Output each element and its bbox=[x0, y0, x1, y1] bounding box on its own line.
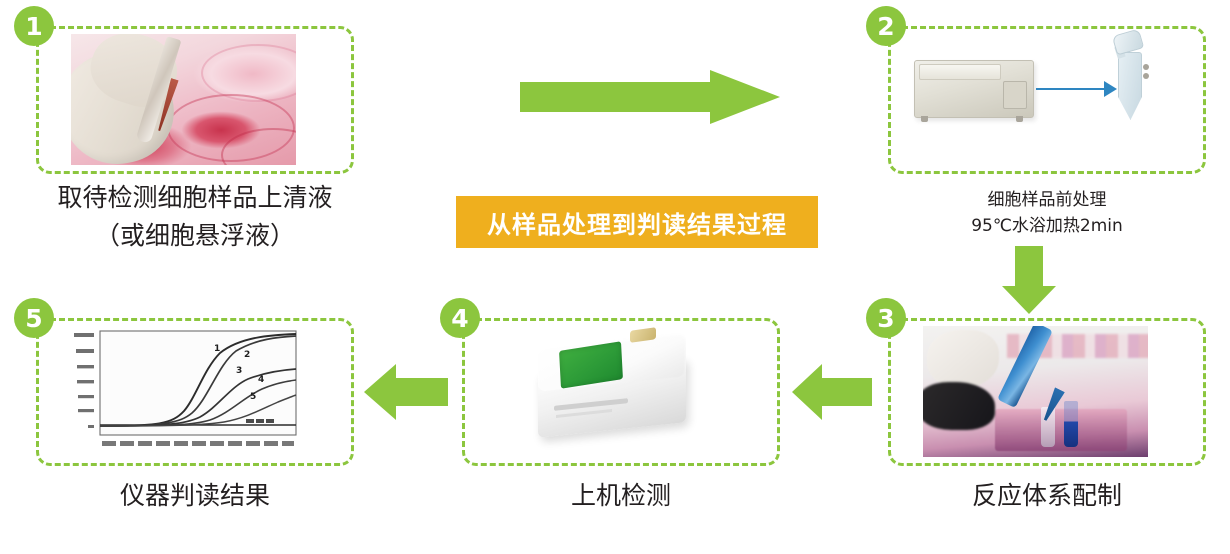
svg-text:1: 1 bbox=[214, 344, 220, 354]
step-3-image bbox=[923, 326, 1148, 457]
workflow-diagram: 1 取待检测细胞样品上清液 （或细胞悬浮液） 2 bbox=[0, 0, 1230, 554]
step-5-caption: 仪器判读结果 bbox=[36, 478, 354, 514]
step-5-image: 1 2 3 4 5 bbox=[68, 325, 308, 457]
arrow-step2-to-step3 bbox=[1002, 246, 1056, 314]
step-1-image bbox=[71, 34, 296, 165]
step-4-caption: 上机检测 bbox=[462, 478, 780, 514]
step-4-badge: 4 bbox=[440, 298, 480, 338]
step-3-caption: 反应体系配制 bbox=[888, 478, 1206, 514]
process-title-banner: 从样品处理到判读结果过程 bbox=[456, 196, 818, 248]
step-4-image bbox=[502, 324, 732, 458]
step-3: 3 bbox=[888, 318, 1206, 466]
step-1-caption-line-1: 取待检测细胞样品上清液 bbox=[36, 180, 354, 216]
arrow-step1-to-step2 bbox=[520, 70, 780, 124]
blue-arrow-head bbox=[1104, 81, 1117, 97]
pcr-amplification-chart: 1 2 3 4 5 bbox=[68, 325, 308, 457]
step-1-caption-line-2: （或细胞悬浮液） bbox=[36, 218, 354, 254]
svg-text:2: 2 bbox=[244, 350, 250, 360]
step-5: 5 bbox=[36, 318, 354, 466]
svg-text:5: 5 bbox=[250, 392, 256, 402]
step-5-badge: 5 bbox=[14, 298, 54, 338]
step-2: 2 bbox=[888, 26, 1206, 174]
blue-arrow-line bbox=[1036, 88, 1108, 90]
step-2-caption-line-1: 细胞样品前处理 bbox=[888, 188, 1206, 213]
step-1-badge: 1 bbox=[14, 6, 54, 46]
step-3-badge: 3 bbox=[866, 298, 906, 338]
arrow-step4-to-step5 bbox=[364, 364, 448, 420]
step-2-image bbox=[908, 30, 1158, 150]
arrow-step3-to-step4 bbox=[792, 364, 872, 420]
step-2-caption-line-2: 95℃水浴加热2min bbox=[888, 214, 1206, 239]
step-4: 4 bbox=[462, 318, 780, 466]
svg-text:3: 3 bbox=[236, 366, 242, 376]
svg-text:4: 4 bbox=[258, 375, 264, 385]
step-1: 1 bbox=[36, 26, 354, 174]
step-2-badge: 2 bbox=[866, 6, 906, 46]
